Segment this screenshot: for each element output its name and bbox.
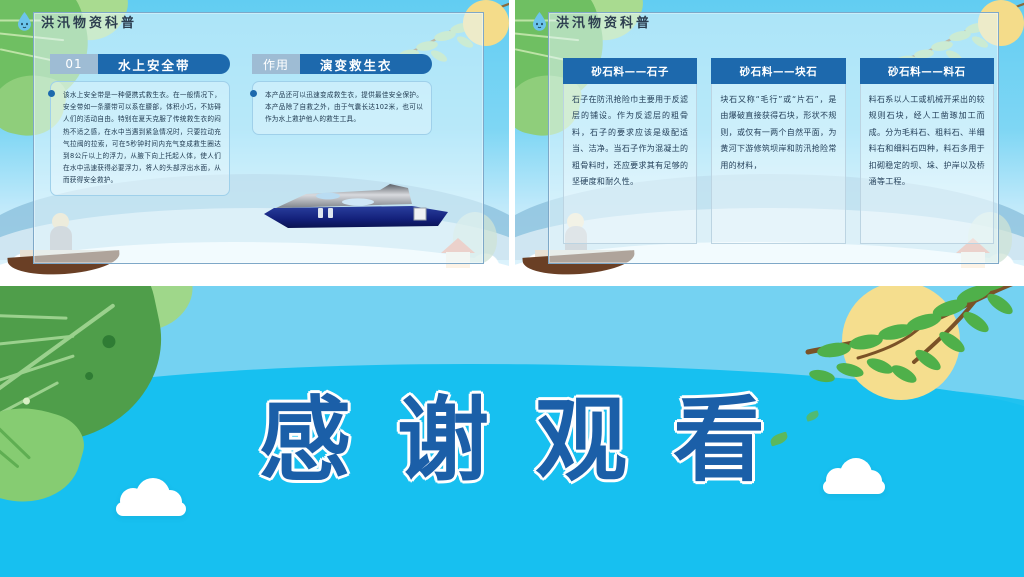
material-cards: 砂石料——石子 石子在防汛抢险巾主要用于反滤层的铺设。作为反滤层的粗骨料，石子的… bbox=[563, 58, 994, 244]
card-title: 砂石料——块石 bbox=[711, 58, 845, 84]
material-card[interactable]: 砂石料——块石 块石又称“毛行”或“片石”，是由爆破直接获得石块，形状不规则，或… bbox=[711, 58, 845, 244]
bullet-dot-icon bbox=[48, 90, 55, 97]
card-body: 石子在防汛抢险巾主要用于反滤层的铺设。作为反滤层的粗骨料，石子的要求应该是级配适… bbox=[563, 84, 697, 244]
thank-you-section: 感谢观看 感谢观看 bbox=[0, 286, 1024, 577]
slide-thumbnail-band: 洪汛物资科普 01 水上安全带 该水上安全带是一种便携式救生衣。在一般情况下，安… bbox=[0, 0, 1024, 286]
slide-header-title: 洪汛物资科普 bbox=[41, 12, 137, 31]
paragraph-box: 该水上安全带是一种便携式救生衣。在一般情况下，安全带如一条腰带可以系在腰部，体积… bbox=[50, 81, 230, 196]
bullet-dot-icon bbox=[250, 90, 257, 97]
slide-header-title: 洪汛物资科普 bbox=[556, 12, 652, 31]
badge-title: 演变救生衣 bbox=[300, 54, 432, 74]
water-drop-icon bbox=[532, 12, 547, 31]
thank-you-headline: 感谢观看 bbox=[0, 390, 1024, 491]
speedboat-illustration bbox=[262, 178, 452, 240]
slide-water-safety-belt[interactable]: 洪汛物资科普 01 水上安全带 该水上安全带是一种便携式救生衣。在一般情况下，安… bbox=[0, 0, 509, 286]
badge-number: 作用 bbox=[252, 54, 300, 74]
card-title: 砂石料——料石 bbox=[860, 58, 994, 84]
material-card[interactable]: 砂石料——料石 料石系以人工或机械开采出的较规则石块，经人工凿琢加工而成。分为毛… bbox=[860, 58, 994, 244]
badge-number: 01 bbox=[50, 54, 98, 74]
content-column-2: 作用 演变救生衣 本产品还可以迅速变成救生衣，提供最佳安全保护。本产品除了自救之… bbox=[252, 54, 432, 135]
content-column-1: 01 水上安全带 该水上安全带是一种便携式救生衣。在一般情况下，安全带如一条腰带… bbox=[50, 54, 230, 196]
card-title: 砂石料——石子 bbox=[563, 58, 697, 84]
card-text: 料石系以人工或机械开采出的较规则石块，经人工凿琢加工而成。分为毛料石、粗料石、半… bbox=[869, 92, 985, 190]
card-text: 石子在防汛抢险巾主要用于反滤层的铺设。作为反滤层的粗骨料，石子的要求应该是级配适… bbox=[572, 92, 688, 190]
slide-gravel-materials[interactable]: 洪汛物资科普 砂石料——石子 石子在防汛抢险巾主要用于反滤层的铺设。作为反滤层的… bbox=[515, 0, 1024, 286]
presentation-canvas: 洪汛物资科普 01 水上安全带 该水上安全带是一种便携式救生衣。在一般情况下，安… bbox=[0, 0, 1024, 577]
section-badge[interactable]: 作用 演变救生衣 bbox=[252, 54, 432, 74]
paragraph-box: 本产品还可以迅速变成救生衣，提供最佳安全保护。本产品除了自救之外，由于气囊长达1… bbox=[252, 81, 432, 135]
slide-header: 洪汛物资科普 bbox=[17, 12, 137, 31]
badge-title: 水上安全带 bbox=[98, 54, 230, 74]
paragraph-text: 该水上安全带是一种便携式救生衣。在一般情况下，安全带如一条腰带可以系在腰部，体积… bbox=[63, 89, 221, 187]
section-badge[interactable]: 01 水上安全带 bbox=[50, 54, 230, 74]
paragraph-text: 本产品还可以迅速变成救生衣，提供最佳安全保护。本产品除了自救之外，由于气囊长达1… bbox=[265, 89, 423, 126]
card-text: 块石又称“毛行”或“片石”，是由爆破直接获得石块，形状不规则，或仅有一两个自然平… bbox=[720, 92, 836, 174]
material-card[interactable]: 砂石料——石子 石子在防汛抢险巾主要用于反滤层的铺设。作为反滤层的粗骨料，石子的… bbox=[563, 58, 697, 244]
card-body: 料石系以人工或机械开采出的较规则石块，经人工凿琢加工而成。分为毛料石、粗料石、半… bbox=[860, 84, 994, 244]
water-drop-icon bbox=[17, 12, 32, 31]
slide-header: 洪汛物资科普 bbox=[532, 12, 652, 31]
card-body: 块石又称“毛行”或“片石”，是由爆破直接获得石块，形状不规则，或仅有一两个自然平… bbox=[711, 84, 845, 244]
